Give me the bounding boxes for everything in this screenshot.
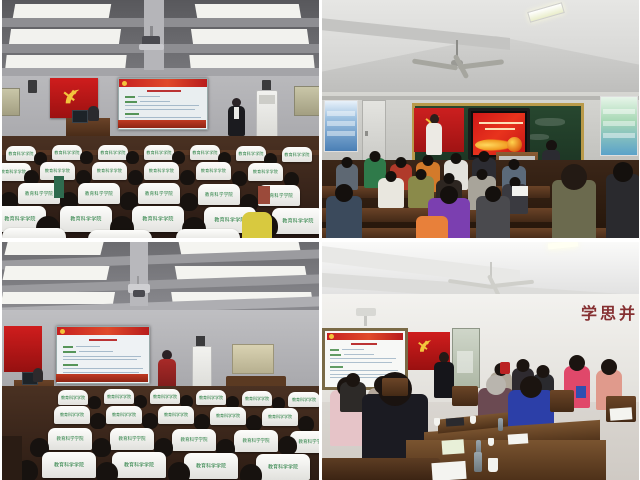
document <box>610 407 633 421</box>
chair-cover: 教育科学学院 <box>210 407 246 425</box>
student <box>552 180 596 240</box>
slide-title-bar <box>89 339 117 341</box>
chair-cover: 教育科学学院 <box>132 206 184 232</box>
chair-cover: 教育科学学院 <box>144 145 174 160</box>
audience-red-jacket <box>258 186 270 204</box>
wall-poster-left <box>324 100 358 152</box>
door[interactable] <box>452 328 480 388</box>
slide-header-banner <box>119 79 207 87</box>
slide-title-bar <box>147 90 181 92</box>
chair-cover: 教育科学学院 <box>272 208 320 234</box>
classroom-meeting-photo <box>320 0 640 240</box>
red-item <box>500 362 510 374</box>
chair-cover: 教育科学学院 <box>106 406 142 424</box>
chair-cover: 教育科学学院 <box>42 452 96 478</box>
chair-cover: 教育科学学院 <box>172 429 216 451</box>
chair-cover: 教育科学学院 <box>242 391 272 406</box>
chair-cover: 教育科学学院 <box>60 206 112 232</box>
lecture-hall-wide-photo: 教育科学学院 教育科学学院 教育科学学院 教育科学学院 教育科学学院 教育科学学… <box>0 0 320 240</box>
chair-cover: 教育科学学院 <box>190 145 220 160</box>
wall-calligraphy: 学思并 <box>581 300 638 324</box>
door-panel <box>457 351 473 373</box>
podium-operator <box>33 368 43 382</box>
photo-top-left: 教育科学学院 教育科学学院 教育科学学院 教育科学学院 教育科学学院 教育科学学… <box>0 0 320 240</box>
chair-cover: 教育科学学院 <box>184 453 238 479</box>
chair-cover: 教育科学学院 <box>48 428 92 450</box>
chair-cover: 教育科学学院 <box>6 146 36 161</box>
projector-icon <box>139 44 164 50</box>
photo-bottom-right: 学思并 <box>320 240 640 480</box>
chair-cover: 教育科学学院 <box>158 406 194 424</box>
slide-header-banner <box>57 327 149 335</box>
ceiling-light-panel <box>13 4 111 18</box>
chair-cover: 教育科学学院 <box>288 392 320 407</box>
chair-cover: 教育科学学院 <box>98 145 128 160</box>
ceiling-light-panel <box>189 55 314 68</box>
chair-cover: 教育科学学院 <box>52 145 82 160</box>
collage-horizontal-gutter <box>0 238 640 242</box>
photo-top-right <box>320 0 640 240</box>
wall-poster-right <box>600 96 638 156</box>
chair-cover: 教育科学学院 <box>54 406 90 424</box>
chair-cover: 教育科学学院 <box>110 428 154 450</box>
chair-cover: 教育科学学院 <box>196 162 231 180</box>
window-blind <box>232 344 274 374</box>
podium-operator <box>88 106 99 121</box>
monitor <box>72 110 88 123</box>
chair-cover: 教育科学学院 <box>282 147 312 162</box>
chair-cover: 教育科学学院 <box>248 163 283 181</box>
audience-green-jacket <box>54 176 64 198</box>
document <box>442 439 465 455</box>
chair <box>382 378 408 396</box>
slide-header-banner <box>327 333 403 340</box>
slide-title-bar <box>351 343 377 345</box>
collage-left-edge <box>0 0 2 480</box>
chair-cover: 教育科学学院 <box>234 430 278 452</box>
paper-cup <box>434 418 440 426</box>
ceiling-light-panel <box>195 4 301 18</box>
laptop-bag <box>446 417 465 426</box>
chair-cover: 教育科学学院 <box>256 454 310 480</box>
window <box>294 86 320 116</box>
screen-footer <box>118 120 206 128</box>
student <box>606 174 640 240</box>
student <box>378 178 404 208</box>
ceiling-light-panel <box>191 29 309 44</box>
globe-graphic-icon <box>507 137 522 152</box>
audience-yellow-jacket <box>242 212 272 240</box>
document <box>508 433 529 444</box>
photo-bottom-left: 教育科学学院 教育科学学院 教育科学学院 教育科学学院 教育科学学院 教育科学学… <box>0 240 320 480</box>
chair-cover: 教育科学学院 <box>138 183 180 204</box>
meeting-table <box>320 458 440 480</box>
chair <box>452 386 478 406</box>
wall-speaker-icon <box>28 80 37 93</box>
chair-cover: 教育科学学院 <box>150 389 180 404</box>
paper-cup <box>488 438 494 446</box>
chair-cover: 教育科学学院 <box>78 183 120 204</box>
student <box>326 196 362 240</box>
foreground-shadow <box>0 436 22 480</box>
chair-cover: 教育科学学院 <box>92 162 127 180</box>
party-flag <box>4 326 42 372</box>
chair-cover: 教育科学学院 <box>236 146 266 161</box>
chair <box>550 390 574 412</box>
chair-cover: 教育科学学院 <box>104 389 134 404</box>
blue-folder <box>576 386 586 398</box>
tv-slide <box>473 113 525 155</box>
student <box>476 196 510 240</box>
chair-cover: 教育科学学院 <box>262 408 298 426</box>
paper-cup <box>488 458 498 472</box>
window <box>0 88 20 116</box>
hammer-sickle-icon <box>62 87 84 107</box>
door-knob-icon <box>365 131 368 136</box>
projector-icon <box>356 308 376 316</box>
hammer-sickle-icon <box>417 338 435 355</box>
water-bottle <box>474 452 482 472</box>
document <box>431 461 466 480</box>
presenter <box>434 352 454 402</box>
student-orange-jacket <box>416 216 448 240</box>
chair-cover: 教育科学学院 <box>198 184 240 205</box>
chair-cover: 教育科学学院 <box>196 390 226 405</box>
chair-cover: 教育科学学院 <box>112 452 166 478</box>
seminar-room-photo: 学思并 <box>320 240 640 480</box>
chair-cover: 教育科学学院 <box>58 390 88 405</box>
presenter <box>426 114 442 158</box>
chair-cover: 教育科学学院 <box>144 162 179 180</box>
lecture-hall-angled-photo: 教育科学学院 教育科学学院 教育科学学院 教育科学学院 教育科学学院 教育科学学… <box>0 240 320 480</box>
screen-footer <box>56 374 148 382</box>
ceiling-light-panel <box>5 55 126 68</box>
water-bottle <box>498 418 503 431</box>
ceiling-beam-center <box>144 0 164 70</box>
paper-cup <box>470 416 476 424</box>
ceiling-light-panel <box>9 29 121 44</box>
